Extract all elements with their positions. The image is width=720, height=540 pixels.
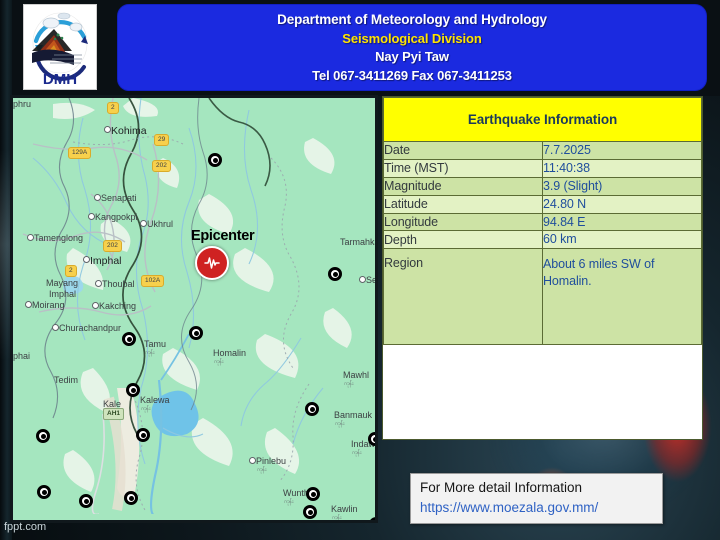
map-place-label: Imphal	[49, 289, 76, 299]
table-value-date: 7.7.2025	[543, 142, 702, 160]
table-value-longitude: 94.84 E	[543, 213, 702, 231]
table-row: Depth60 km	[384, 231, 702, 249]
map-place-label: Banmauk	[334, 410, 372, 420]
seismic-station-marker[interactable]	[37, 485, 51, 499]
map-place-dot	[88, 213, 95, 220]
table-body: Date7.7.2025Time (MST)11:40:38Magnitude3…	[384, 142, 702, 345]
map-place-dot	[140, 220, 147, 227]
map-place-label: Tarmahkan	[340, 237, 378, 247]
map-place-label-local: ကုန်း	[344, 380, 353, 388]
map-place-label-local: ကုန်း	[352, 449, 361, 457]
seismic-station-marker[interactable]	[208, 153, 222, 167]
table-value-time-mst: 11:40:38	[543, 159, 702, 177]
map-place-label: Homalin	[213, 348, 246, 358]
epicenter-marker[interactable]	[195, 246, 229, 280]
road-shield: 2	[65, 265, 77, 277]
map-place-dot	[94, 194, 101, 201]
table-value-depth: 60 km	[543, 231, 702, 249]
seismic-station-marker[interactable]	[126, 383, 140, 397]
header-banner: Department of Meteorology and Hydrology …	[118, 5, 706, 90]
seismic-station-marker[interactable]	[136, 428, 150, 442]
map-place-label: Churachandpur	[59, 323, 121, 333]
road-shield: 129A	[68, 147, 91, 159]
map-place-label: Kakching	[99, 301, 136, 311]
map-place-dot	[249, 457, 256, 464]
seismic-station-marker[interactable]	[328, 267, 342, 281]
table-key-longitude: Longitude	[384, 213, 543, 231]
header-line-department: Department of Meteorology and Hydrology	[277, 13, 547, 27]
map-place-label-local: ကုန်း	[335, 420, 344, 428]
map-place-label: Kalewa	[140, 395, 170, 405]
header-line-contact: Tel 067-3411269 Fax 067-3411253	[312, 69, 512, 82]
table-value-region: About 6 miles SW of Homalin.	[543, 249, 702, 345]
map-place-dot	[104, 126, 111, 133]
map-place-label: Tedim	[54, 375, 78, 385]
table-row: Magnitude3.9 (Slight)	[384, 177, 702, 195]
highway-shield-ah1: AH1	[103, 408, 124, 420]
seismic-station-marker[interactable]	[122, 332, 136, 346]
map-place-dot	[52, 324, 59, 331]
map-place-label: Kangpokpi	[95, 212, 138, 222]
header-line-city: Nay Pyi Taw	[375, 50, 449, 63]
road-shield: 202	[152, 160, 171, 172]
map-place-label: Imphal	[90, 255, 122, 267]
seismic-station-marker[interactable]	[369, 517, 378, 523]
header-line-division: Seismological Division	[342, 32, 481, 45]
map-place-label: Sezin	[366, 275, 378, 285]
map-place-label: phru	[13, 99, 31, 109]
map-place-label: Pinlebu	[256, 456, 286, 466]
map-place-dot	[95, 280, 102, 287]
table-key-magnitude: Magnitude	[384, 177, 543, 195]
table-row: Date7.7.2025	[384, 142, 702, 160]
epicenter-map[interactable]: KohimaSenapatiKangpokpiUkhrulTamenglongI…	[10, 95, 378, 523]
map-place-label: Tamenglong	[34, 233, 83, 243]
map-place-label-local: ကုန်း	[214, 358, 223, 366]
map-place-label: Mayang	[46, 278, 78, 288]
map-place-label-local: ကုန်း	[332, 514, 341, 522]
table-row: Longitude94.84 E	[384, 213, 702, 231]
earthquake-info-table: Earthquake Information Date7.7.2025Time …	[383, 97, 702, 345]
table-row: RegionAbout 6 miles SW of Homalin.	[384, 249, 702, 345]
table-key-date: Date	[384, 142, 543, 160]
map-place-label-local: ကုန်း	[257, 466, 266, 474]
slide-root: DMH Department of Meteorology and Hydrol…	[0, 0, 720, 540]
seismic-station-marker[interactable]	[79, 494, 93, 508]
map-place-label-local: ကုန်း	[141, 405, 150, 413]
map-place-label: Senapati	[101, 193, 137, 203]
map-place-dot	[92, 302, 99, 309]
map-place-label: Kawlin	[331, 504, 358, 514]
map-place-dot	[83, 256, 90, 263]
seismic-station-marker[interactable]	[189, 326, 203, 340]
map-place-label: Kohima	[111, 125, 147, 137]
seismic-station-marker[interactable]	[368, 432, 378, 446]
map-place-label-local: ကုန်း	[145, 349, 154, 357]
table-title: Earthquake Information	[384, 98, 702, 142]
map-place-label: Thoubal	[102, 279, 135, 289]
road-shield: 29	[154, 134, 169, 146]
table-key-region: Region	[384, 249, 543, 345]
map-place-label: Mawhl	[343, 370, 369, 380]
epicenter-label: Epicenter	[191, 228, 254, 244]
table-header-row: Earthquake Information	[384, 98, 702, 142]
map-place-label: Ukhrul	[147, 219, 173, 229]
dmh-logo-text: DMH	[43, 71, 77, 88]
more-info-box[interactable]: For More detail Information https://www.…	[410, 473, 663, 524]
table-value-latitude: 24.80 N	[543, 195, 702, 213]
table-key-latitude: Latitude	[384, 195, 543, 213]
seismic-station-marker[interactable]	[306, 487, 320, 501]
map-place-label: phai	[13, 351, 30, 361]
table-value-magnitude: 3.9 (Slight)	[543, 177, 702, 195]
seismic-station-marker[interactable]	[305, 402, 319, 416]
earthquake-info-panel: Earthquake Information Date7.7.2025Time …	[382, 96, 703, 440]
map-place-dot	[27, 234, 34, 241]
map-place-label-local: ကုန်း	[284, 498, 293, 506]
map-place-dot	[25, 301, 32, 308]
road-shield: 202	[103, 240, 122, 252]
seismic-station-marker[interactable]	[36, 429, 50, 443]
route-shield-blue: 31	[358, 522, 371, 523]
map-place-label: Tamu	[144, 339, 166, 349]
map-place-dot	[359, 276, 366, 283]
table-row: Time (MST)11:40:38	[384, 159, 702, 177]
dmh-logo: DMH	[24, 5, 96, 89]
seismic-station-marker[interactable]	[124, 491, 138, 505]
table-key-time-mst: Time (MST)	[384, 159, 543, 177]
road-shield: 2	[107, 102, 119, 114]
more-info-link[interactable]: https://www.moezala.gov.mm/	[420, 498, 653, 518]
map-place-label: Moirang	[32, 300, 65, 310]
table-key-depth: Depth	[384, 231, 543, 249]
more-info-label: For More detail Information	[420, 478, 653, 498]
watermark: fppt.com	[4, 521, 46, 533]
seismic-station-marker[interactable]	[303, 505, 317, 519]
seismograph-icon	[203, 254, 221, 272]
road-shield: 102A	[141, 275, 164, 287]
map-overlay: KohimaSenapatiKangpokpiUkhrulTamenglongI…	[13, 98, 375, 520]
table-row: Latitude24.80 N	[384, 195, 702, 213]
